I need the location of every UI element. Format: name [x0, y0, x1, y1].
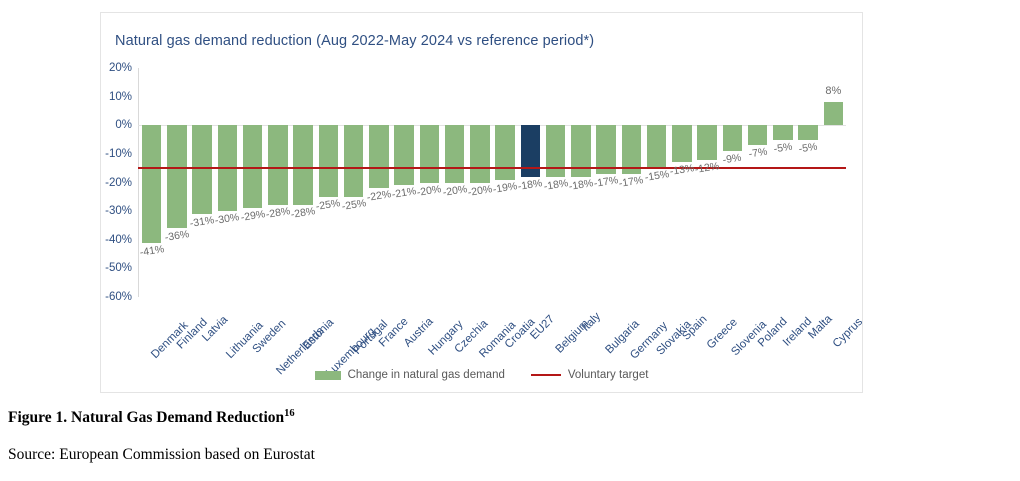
bar-value-label: -31% — [189, 214, 215, 230]
bar-value-label: -41% — [139, 243, 165, 259]
bar-value-label: 8% — [825, 85, 841, 97]
bar-slot: -18% — [518, 68, 543, 297]
bar-slot: -19% — [493, 68, 518, 297]
bar[interactable] — [420, 125, 440, 182]
bar-slot: -20% — [442, 68, 467, 297]
x-axis-label-slot: Netherlands — [265, 301, 290, 371]
bar[interactable] — [824, 102, 844, 125]
bar[interactable] — [445, 125, 465, 182]
x-axis-label-slot: Greece — [695, 301, 720, 371]
bar-value-label: -25% — [315, 197, 341, 213]
bar-value-label: -29% — [240, 208, 266, 224]
x-axis-label-slot: Cyprus — [821, 301, 846, 371]
chart-legend: Change in natural gas demand Voluntary t… — [101, 369, 862, 381]
x-axis-category-label: Cyprus — [831, 316, 865, 350]
y-axis-tick-label: -30% — [105, 205, 132, 217]
bar-slot: -12% — [695, 68, 720, 297]
bar[interactable] — [293, 125, 313, 205]
bar-slot: -9% — [720, 68, 745, 297]
bar[interactable] — [697, 125, 717, 159]
bar-slot: -13% — [669, 68, 694, 297]
x-axis-label-slot: Sweden — [240, 301, 265, 371]
x-axis-label-slot: EU27 — [518, 301, 543, 371]
y-axis-tick-label: -20% — [105, 177, 132, 189]
bar-slot: -22% — [366, 68, 391, 297]
x-axis-label-slot: Croatia — [493, 301, 518, 371]
source-line: Source: European Commission based on Eur… — [8, 446, 315, 464]
bar-value-label: -17% — [593, 174, 619, 190]
figure-caption-text: Figure 1. Natural Gas Demand Reduction — [8, 409, 284, 426]
chart-container: Natural gas demand reduction (Aug 2022-M… — [100, 12, 863, 393]
x-axis-label-slot: Romania — [467, 301, 492, 371]
x-axis-label-slot: Poland — [745, 301, 770, 371]
figure-caption: Figure 1. Natural Gas Demand Reduction16 — [8, 408, 908, 427]
bar-value-label: -17% — [618, 174, 644, 190]
bar-value-label: -25% — [341, 197, 367, 213]
bar-slot: -25% — [316, 68, 341, 297]
x-axis-label-slot: Bulgaria — [594, 301, 619, 371]
y-axis-tick-label: -60% — [105, 291, 132, 303]
bar[interactable] — [495, 125, 515, 179]
bar-slot: -31% — [190, 68, 215, 297]
x-axis-category-labels: DenmarkFinlandLatviaLithuaniaSwedenNethe… — [139, 301, 846, 371]
bar-value-label: -22% — [366, 188, 392, 204]
bar-value-label: -5% — [773, 140, 793, 155]
legend-line-swatch-icon — [531, 374, 561, 377]
bar[interactable] — [344, 125, 364, 197]
legend-item-line: Voluntary target — [531, 369, 649, 381]
legend-item-bar: Change in natural gas demand — [315, 369, 505, 381]
x-axis-label-slot: Lithuania — [215, 301, 240, 371]
bar[interactable] — [748, 125, 768, 145]
bar[interactable] — [470, 125, 490, 182]
y-axis-tick-label: -50% — [105, 262, 132, 274]
bar[interactable] — [723, 125, 743, 151]
bar-slot: -36% — [164, 68, 189, 297]
chart-title: Natural gas demand reduction (Aug 2022-M… — [115, 33, 594, 49]
bar[interactable] — [142, 125, 162, 242]
bar-slot: -28% — [291, 68, 316, 297]
x-axis-label-slot: Spain — [669, 301, 694, 371]
bar-value-label: -28% — [290, 206, 316, 222]
bar[interactable] — [319, 125, 339, 197]
bar-slot: -41% — [139, 68, 164, 297]
bar-series: -41%-36%-31%-30%-29%-28%-28%-25%-25%-22%… — [139, 68, 846, 297]
bar-slot: -5% — [770, 68, 795, 297]
bar-value-label: -30% — [214, 211, 240, 227]
legend-line-label: Voluntary target — [568, 369, 649, 381]
bar-slot: -28% — [265, 68, 290, 297]
bar[interactable] — [268, 125, 288, 205]
bar-value-label: -18% — [568, 177, 594, 193]
bar[interactable] — [369, 125, 389, 188]
y-axis-tick-label: -10% — [105, 148, 132, 160]
bar[interactable] — [773, 125, 793, 139]
bar-value-label: -36% — [164, 228, 190, 244]
bar-value-label: -13% — [669, 163, 695, 179]
bar[interactable] — [394, 125, 414, 185]
y-axis-tick-label: 20% — [109, 62, 132, 74]
x-axis-label-slot: Belgium — [543, 301, 568, 371]
x-axis-label-slot: France — [366, 301, 391, 371]
bar[interactable] — [647, 125, 667, 168]
bar-slot: -7% — [745, 68, 770, 297]
voluntary-target-line — [138, 167, 846, 169]
x-axis-label-slot: Malta — [796, 301, 821, 371]
x-axis-label-slot: Czechia — [442, 301, 467, 371]
plot-area: 20%10%0%-10%-20%-30%-40%-50%-60% -41%-36… — [138, 68, 846, 297]
bar[interactable] — [798, 125, 818, 139]
bar-slot: -20% — [467, 68, 492, 297]
bar-value-label: -20% — [442, 183, 468, 199]
bar-value-label: -9% — [722, 152, 742, 167]
bar-value-label: -20% — [416, 183, 442, 199]
y-axis-tick-label: 10% — [109, 91, 132, 103]
bar-slot: -20% — [417, 68, 442, 297]
bar-value-label: -7% — [747, 146, 767, 161]
bar[interactable] — [167, 125, 187, 228]
bar[interactable] — [672, 125, 692, 162]
bar[interactable] — [192, 125, 212, 214]
bar-slot: -25% — [341, 68, 366, 297]
figure-caption-block: Figure 1. Natural Gas Demand Reduction16… — [8, 408, 908, 427]
bar-value-label: -19% — [492, 180, 518, 196]
y-axis-tick-label: 0% — [115, 119, 132, 131]
x-axis-label-slot: Luxembourg — [316, 301, 341, 371]
bar-slot: 8% — [821, 68, 846, 297]
bar-slot: -5% — [796, 68, 821, 297]
x-axis-label-slot: Italy — [568, 301, 593, 371]
bar-value-label: -15% — [644, 168, 670, 184]
bar-slot: -18% — [568, 68, 593, 297]
x-axis-label-slot: Slovakia — [644, 301, 669, 371]
figure-footnote-marker: 16 — [284, 408, 295, 419]
bar-slot: -17% — [594, 68, 619, 297]
x-axis-label-slot: Denmark — [139, 301, 164, 371]
x-axis-label-slot: Portugal — [341, 301, 366, 371]
x-axis-label-slot: Austria — [392, 301, 417, 371]
bar-value-label: -21% — [391, 186, 417, 202]
x-axis-label-slot: Slovenia — [720, 301, 745, 371]
bar-slot: -18% — [543, 68, 568, 297]
legend-bar-swatch-icon — [315, 371, 341, 380]
x-axis-label-slot: Ireland — [770, 301, 795, 371]
bar-value-label: -5% — [798, 140, 818, 155]
bar-slot: -15% — [644, 68, 669, 297]
x-axis-label-slot: Estonia — [291, 301, 316, 371]
bar-slot: -21% — [392, 68, 417, 297]
legend-bar-label: Change in natural gas demand — [348, 369, 505, 381]
bar-value-label: -18% — [543, 177, 569, 193]
bar-slot: -30% — [215, 68, 240, 297]
y-axis-tick-label: -40% — [105, 234, 132, 246]
bar-value-label: -12% — [694, 160, 720, 176]
x-axis-label-slot: Latvia — [190, 301, 215, 371]
bar-value-label: -28% — [265, 206, 291, 222]
bar-slot: -17% — [619, 68, 644, 297]
x-axis-label-slot: Finland — [164, 301, 189, 371]
x-axis-label-slot: Hungary — [417, 301, 442, 371]
x-axis-label-slot: Germany — [619, 301, 644, 371]
bar-value-label: -20% — [467, 183, 493, 199]
bar-slot: -29% — [240, 68, 265, 297]
bar-value-label: -18% — [517, 177, 543, 193]
